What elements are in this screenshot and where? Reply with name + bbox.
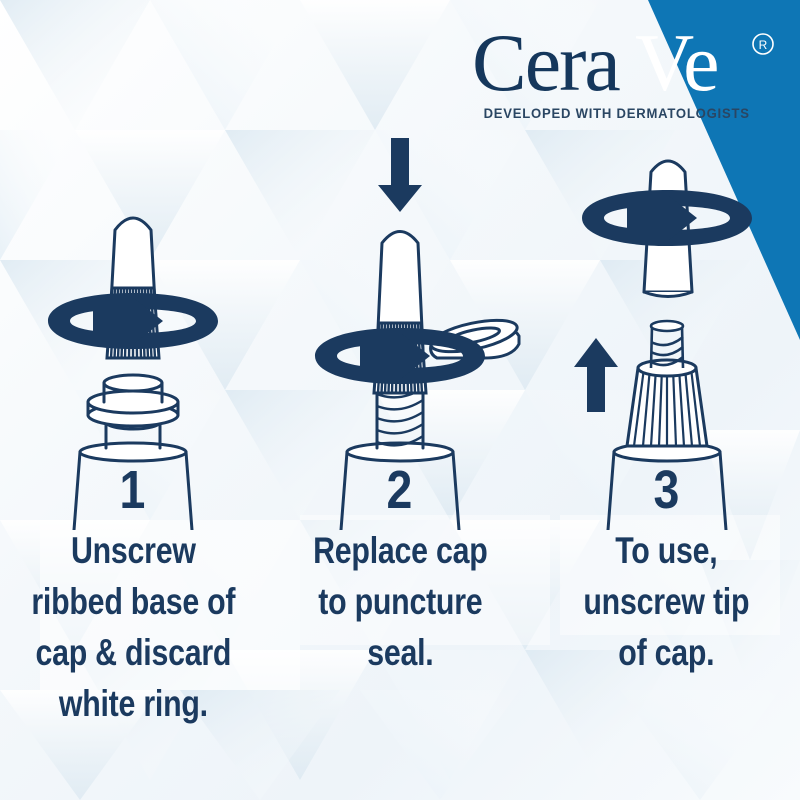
- step-2-illustration: 2: [267, 130, 534, 530]
- step-illustrations: 1: [0, 130, 800, 530]
- logo-tagline: DEVELOPED WITH DERMATOLOGISTS: [484, 106, 750, 121]
- press-down-arrow: [378, 138, 422, 212]
- seal-disc-top: [104, 375, 162, 391]
- registered-trademark-letter: R: [759, 38, 768, 52]
- step-2-caption: Replace cap to puncture seal.: [291, 525, 510, 678]
- step-1-caption: Unscrew ribbed base of cap & discard whi…: [24, 525, 243, 729]
- cerave-logo: Cera Ve R DEVELOPED WITH DERMATOLOGISTS: [470, 18, 790, 128]
- rotate-arrow-band: [582, 190, 752, 246]
- bottle-step-number: 1: [120, 459, 146, 520]
- step-3-illustration: 3: [533, 130, 800, 530]
- rotate-arrow-band: [48, 293, 218, 349]
- cap-tip-bottom: [644, 292, 692, 297]
- bottle-step-number: 3: [653, 459, 679, 520]
- step-3-caption: To use, unscrew tip of cap.: [557, 525, 776, 678]
- white-ring-top: [88, 391, 178, 413]
- bottle-step-number: 2: [387, 459, 413, 520]
- logo-wordmark-dark: Cera: [472, 18, 620, 108]
- attached-ribbed-base: [627, 360, 707, 446]
- step-captions: Unscrew ribbed base of cap & discard whi…: [0, 525, 800, 795]
- logo-wordmark-light: Ve: [635, 18, 718, 108]
- step-1-illustration: 1: [0, 130, 267, 530]
- neck-threads: [377, 388, 423, 445]
- lift-up-arrow: [574, 338, 618, 412]
- instruction-graphic: Cera Ve R DEVELOPED WITH DERMATOLOGISTS: [0, 0, 800, 800]
